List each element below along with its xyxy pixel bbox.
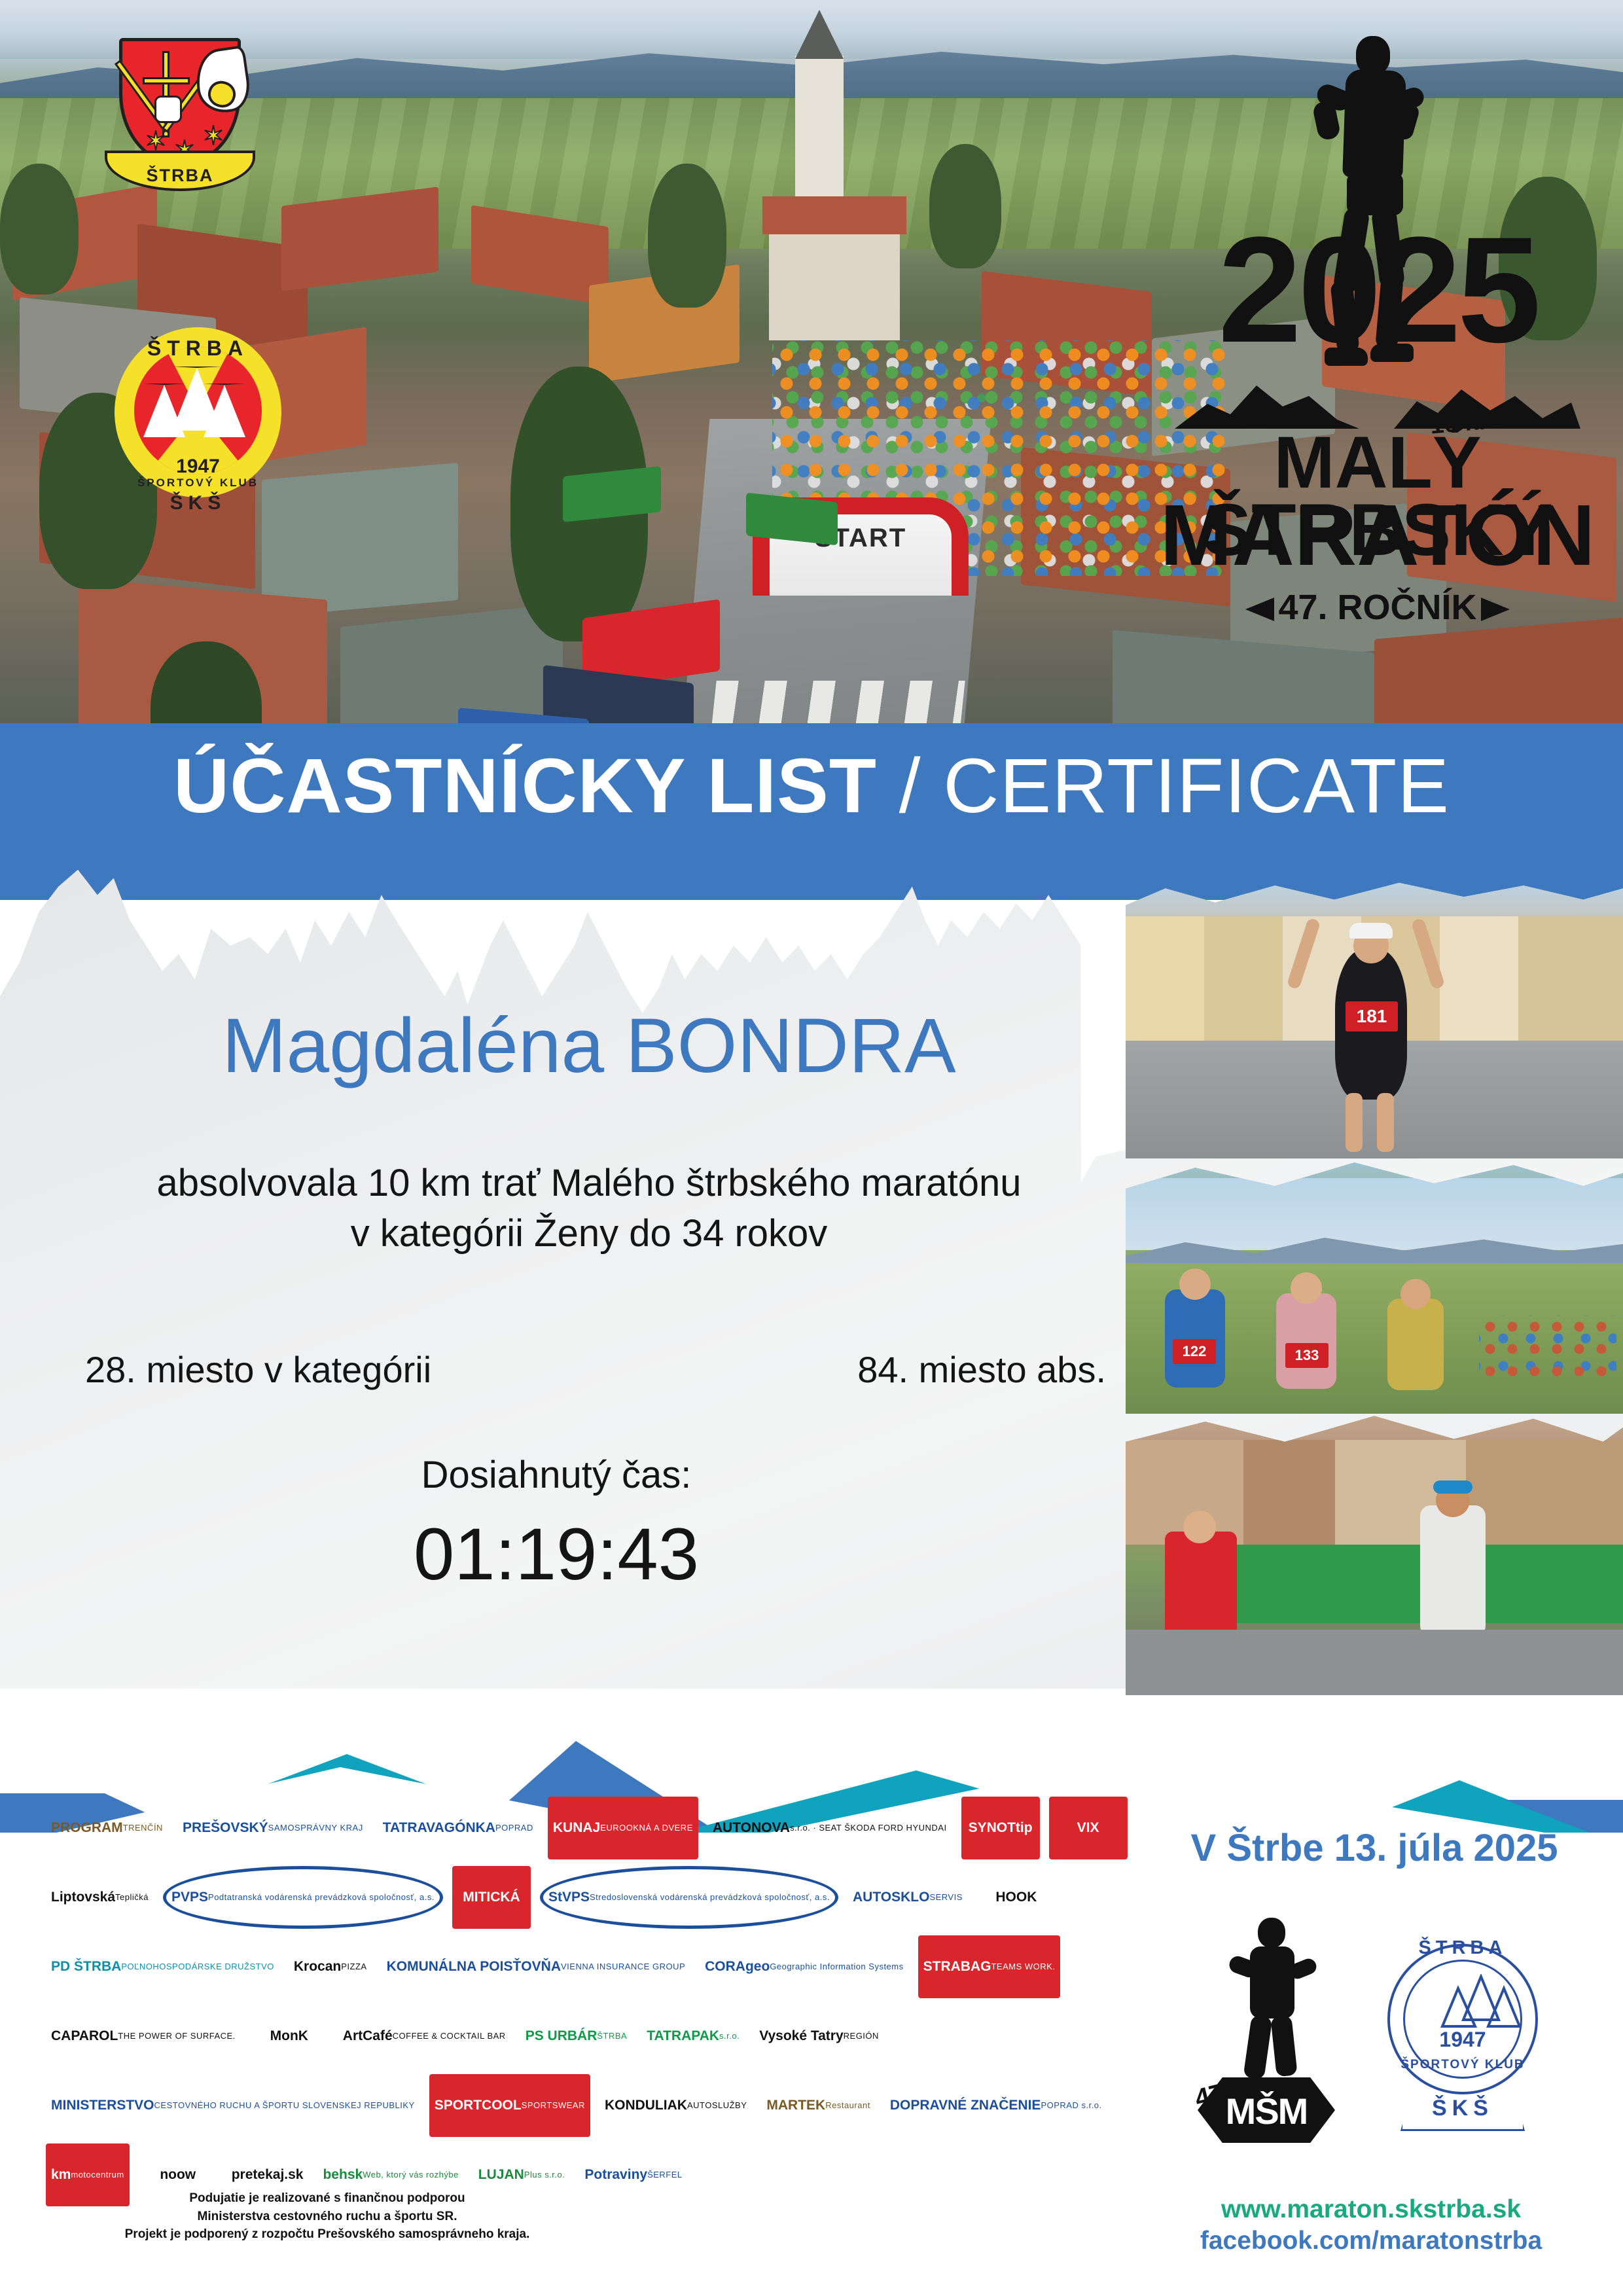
collage-sky bbox=[1126, 1178, 1623, 1250]
sponsor-logo-grid: PROGRAMTRENČÍNPREŠOVSKÝSAMOSPRÁVNY KRAJT… bbox=[46, 1797, 1145, 2206]
bib-number: 133 bbox=[1285, 1343, 1329, 1368]
sponsor-subtitle: SERVIS bbox=[929, 1893, 962, 1902]
finish-banner-green bbox=[1204, 1545, 1623, 1623]
sponsor-name: MARTEK bbox=[766, 2098, 825, 2113]
sponsor-name: KOMUNÁLNA POISŤOVŇA bbox=[387, 1960, 561, 1974]
runner-group-far bbox=[1479, 1316, 1616, 1388]
sponsor-name: MITICKÁ bbox=[463, 1890, 520, 1905]
sponsor-name: SPORTCOOL bbox=[435, 2098, 522, 2113]
sks-club-emblem: ŠTRBA 1947 ŠPORTOVÝ KLUB ŠKŠ bbox=[115, 327, 281, 497]
sponsor-logo: DOPRAVNÉ ZNAČENIEPOPRAD s.r.o. bbox=[885, 2074, 1107, 2137]
bib-number: 181 bbox=[1346, 1001, 1398, 1031]
sponsor-logo: CAPAROLTHE POWER OF SURFACE. bbox=[46, 2005, 241, 2068]
runner-head bbox=[1400, 1279, 1431, 1309]
sponsor-name: STRABAG bbox=[923, 1960, 991, 1974]
sponsor-logo: KOMUNÁLNA POISŤOVŇAVIENNA INSURANCE GROU… bbox=[382, 1935, 691, 1998]
sponsor-subtitle: PIZZA bbox=[341, 1962, 366, 1971]
photo-tree bbox=[929, 144, 1001, 268]
sks-top-label: ŠTRBA bbox=[115, 336, 281, 361]
emblem-ribbon-label: ŠTRBA bbox=[147, 166, 214, 186]
mountain-peak-icon bbox=[143, 384, 185, 437]
runner-yellow bbox=[1387, 1299, 1444, 1390]
sponsor-name: behsk bbox=[323, 2168, 363, 2182]
cross-arm-icon bbox=[143, 77, 190, 84]
sponsor-subtitle: REGIÓN bbox=[844, 2032, 879, 2041]
sponsor-subtitle: Plus s.r.o. bbox=[524, 2170, 565, 2179]
photo-church-roof bbox=[762, 196, 906, 234]
sponsor-name: pretekaj.sk bbox=[232, 2168, 304, 2182]
sponsor-logo: TATRAPAKs.r.o. bbox=[641, 2005, 745, 2068]
sks-mid-label: ŠPORTOVÝ KLUB bbox=[115, 476, 281, 490]
sponsor-logo: KrocanPIZZA bbox=[289, 1935, 372, 1998]
finisher-cap-icon bbox=[1349, 923, 1393, 939]
sponsor-logo: PREŠOVSKÝSAMOSPRÁVNY KRAJ bbox=[177, 1797, 368, 1859]
photo-collage: 181 122 133 bbox=[1126, 877, 1623, 1695]
sponsor-subtitle: Tepličká bbox=[115, 1893, 149, 1902]
collage-photo-runners-field: 122 133 bbox=[1126, 1152, 1623, 1414]
hero-photo-aerial-village: ŠTART ŠTRBA bbox=[0, 0, 1623, 772]
sponsor-name: TATRAVAGÓNKA bbox=[383, 1821, 495, 1835]
banner-title-light: CERTIFICATE bbox=[943, 743, 1450, 829]
finisher-leg bbox=[1377, 1093, 1394, 1152]
emblem-ribbon: ŠTRBA bbox=[105, 151, 255, 191]
participant-name: Magdaléna BONDRA bbox=[59, 1001, 1119, 1090]
finish-runner bbox=[1420, 1505, 1486, 1636]
sponsor-subtitle: POPRAD bbox=[495, 1823, 533, 1833]
sponsor-name: PREŠOVSKÝ bbox=[183, 1821, 268, 1835]
runner-head bbox=[1179, 1268, 1211, 1300]
sponsor-subtitle: THE POWER OF SURFACE. bbox=[118, 2032, 236, 2041]
sponsor-name: ArtCafé bbox=[343, 2029, 393, 2043]
sponsor-logo: CORAgeoGeographic Information Systems bbox=[700, 1935, 908, 1998]
sponsor-subtitle: Geographic Information Systems bbox=[770, 1962, 903, 1971]
sponsor-name: VIX bbox=[1077, 1821, 1099, 1835]
sponsor-name: SYNOTtip bbox=[969, 1821, 1033, 1835]
stamp-top-label: ŠTRBA bbox=[1393, 1937, 1533, 1959]
sks-bottom-label: ŠKŠ bbox=[115, 492, 281, 514]
sponsor-subtitle: POĽNOHOSPODÁRSKE DRUŽSTVO bbox=[121, 1962, 274, 1971]
sponsor-name: PROGRAM bbox=[51, 1821, 123, 1835]
sponsor-logo: StVPSStredoslovenská vodárenská prevádzk… bbox=[540, 1866, 838, 1929]
photo-church-nave bbox=[769, 216, 900, 340]
sponsor-name: CAPAROL bbox=[51, 2029, 118, 2043]
finish-time: 01:19:43 bbox=[59, 1512, 1054, 1596]
sponsor-subtitle: TRENČÍN bbox=[123, 1823, 163, 1833]
photo-roof bbox=[262, 463, 458, 617]
sponsor-name: Krocan bbox=[294, 1960, 341, 1974]
hand-icon bbox=[154, 96, 182, 123]
sponsor-subtitle: SPORTSWEAR bbox=[522, 2101, 585, 2110]
event-name-line2: MARATÓN bbox=[1149, 495, 1607, 575]
sponsor-logo: KONDULIAKAUTOSLUŽBY bbox=[599, 2074, 752, 2137]
collage-photo-finisher: 181 bbox=[1126, 877, 1623, 1158]
msm-abbreviation: MŠM bbox=[1191, 2090, 1342, 2132]
sponsor-logo: LiptovskáTepličká bbox=[46, 1866, 154, 1929]
description-line-1: absolvovala 10 km trať Malého štrbského … bbox=[59, 1158, 1119, 1209]
stamp-mountain-icon bbox=[1437, 1974, 1482, 2028]
sponsor-logo: MonK bbox=[250, 2005, 329, 2068]
sponsor-name: CORAgeo bbox=[705, 1960, 770, 1974]
sponsor-subtitle: VIENNA INSURANCE GROUP bbox=[561, 1962, 685, 1971]
banner-title: ÚČASTNÍCKY LIST / CERTIFICATE bbox=[0, 742, 1623, 831]
sponsor-logo: ArtCaféCOFFEE & COCKTAIL BAR bbox=[338, 2005, 511, 2068]
sponsor-name: StVPS bbox=[548, 1890, 590, 1905]
photo-tree bbox=[0, 164, 79, 295]
place-in-category: 28. miesto v kategórii bbox=[85, 1348, 431, 1391]
funding-note-line-3: Projekt je podporený z rozpočtu Prešovsk… bbox=[79, 2225, 576, 2244]
facebook-url[interactable]: facebook.com/maratonstrba bbox=[1155, 2225, 1587, 2257]
sponsor-name: MINISTERSTVO bbox=[51, 2098, 154, 2113]
arrow-right-icon bbox=[1481, 598, 1510, 621]
sponsor-logo: PVPSPodtatranská vodárenská prevádzková … bbox=[163, 1866, 443, 1929]
runner-pink bbox=[1276, 1293, 1336, 1389]
sponsor-logo: STRABAGTEAMS WORK. bbox=[918, 1935, 1061, 1998]
funding-note-line-2: Ministerstva cestovného ruchu a športu S… bbox=[79, 2208, 576, 2226]
funding-disclaimer: Podujatie je realizované s finančnou pod… bbox=[79, 2189, 576, 2244]
sponsor-name: PS URBÁR bbox=[526, 2029, 597, 2043]
sponsor-subtitle: ŠERFEL bbox=[647, 2170, 683, 2179]
sponsor-logo: SPORTCOOLSPORTSWEAR bbox=[429, 2074, 590, 2137]
sponsor-name: TATRAPAK bbox=[647, 2029, 719, 2043]
sponsor-subtitle: AUTOSLUŽBY bbox=[687, 2101, 747, 2110]
sponsor-name: Liptovská bbox=[51, 1890, 115, 1905]
stamp-bottom-label: ŠKŠ bbox=[1393, 2096, 1533, 2121]
sponsor-subtitle: COFFEE & COCKTAIL BAR bbox=[393, 2032, 506, 2041]
photo-tree bbox=[648, 164, 726, 308]
issue-date: V Štrbe 13. júla 2025 bbox=[1165, 1826, 1584, 1870]
sponsor-name: KUNAJ bbox=[553, 1821, 600, 1835]
certificate-page: ŠTART ŠTRBA bbox=[0, 0, 1623, 2296]
sponsor-subtitle: s.r.o. · SEAT ŠKODA FORD HYUNDAI bbox=[790, 1823, 946, 1833]
sponsor-name: AUTONOVA bbox=[713, 1821, 790, 1835]
mountain-peak-icon bbox=[204, 384, 245, 437]
sponsor-subtitle: EUROOKNÁ A DVERE bbox=[600, 1823, 693, 1833]
time-label: Dosiahnutý čas: bbox=[59, 1453, 1054, 1497]
sponsor-name: AUTOSKLO bbox=[853, 1890, 929, 1905]
sponsor-name: km bbox=[51, 2168, 71, 2182]
sks-year-label: 1947 bbox=[115, 456, 281, 478]
sponsor-logo: AUTONOVAs.r.o. · SEAT ŠKODA FORD HYUNDAI bbox=[707, 1797, 952, 1859]
sponsor-name: PVPS bbox=[171, 1890, 208, 1905]
runner-head bbox=[1291, 1272, 1322, 1304]
sponsor-subtitle: Podtatranská vodárenská prevádzková spol… bbox=[208, 1893, 435, 1902]
sponsor-logo: Vysoké TatryREGIÓN bbox=[754, 2005, 884, 2068]
certificate-banner: ÚČASTNÍCKY LIST / CERTIFICATE bbox=[0, 723, 1623, 900]
sponsor-subtitle: SAMOSPRÁVNY KRAJ bbox=[268, 1823, 363, 1833]
place-absolute: 84. miesto abs. bbox=[857, 1348, 1106, 1391]
sponsor-name: noow bbox=[160, 2168, 196, 2182]
contact-links: www.maraton.skstrba.sk facebook.com/mara… bbox=[1155, 2194, 1587, 2256]
description-line-2: v kategórii Ženy do 34 rokov bbox=[59, 1209, 1119, 1259]
sponsor-logo: VIX bbox=[1049, 1797, 1128, 1859]
sponsor-subtitle: Web, ktorý vás rozhýbe bbox=[363, 2170, 459, 2179]
sponsor-subtitle: Stredoslovenská vodárenská prevádzková s… bbox=[590, 1893, 830, 1902]
sponsor-logo: SYNOTtip bbox=[961, 1797, 1040, 1859]
sponsor-subtitle: POPRAD s.r.o. bbox=[1041, 2101, 1101, 2110]
sks-club-stamp: ŠTRBA 1947 ŠPORTOVÝ KLUB ŠKŠ bbox=[1374, 1918, 1551, 2134]
sponsor-subtitle: s.r.o. bbox=[719, 2032, 740, 2041]
runner-blue bbox=[1165, 1289, 1225, 1388]
sponsor-subtitle: motocentrum bbox=[71, 2170, 124, 2179]
banner-title-bold: ÚČASTNÍCKY LIST bbox=[173, 743, 877, 829]
event-year: 2025 bbox=[1149, 226, 1607, 354]
stamp-mid-label: ŠPORTOVÝ KLUB bbox=[1393, 2058, 1533, 2072]
stamp-year-label: 1947 bbox=[1393, 2028, 1533, 2052]
sponsor-name: MonK bbox=[270, 2029, 308, 2043]
placement-row: 28. miesto v kategórii 84. miesto abs. bbox=[85, 1348, 1106, 1391]
sponsor-name: HOOK bbox=[995, 1890, 1037, 1905]
sponsor-name: Vysoké Tatry bbox=[759, 2029, 843, 2043]
sponsor-name: LUJAN bbox=[478, 2168, 524, 2182]
sponsor-logo: MITICKÁ bbox=[452, 1866, 531, 1929]
sponsor-subtitle: ŠTRBA bbox=[597, 2032, 627, 2041]
finish-runner-bandana-icon bbox=[1433, 1480, 1472, 1494]
sponsor-logo: AUTOSKLOSERVIS bbox=[847, 1866, 968, 1929]
spectator-head bbox=[1183, 1511, 1216, 1543]
sponsor-logo: PotravinyŠERFEL bbox=[579, 2144, 687, 2206]
event-edition: 47. ROČNÍK bbox=[1149, 587, 1607, 628]
sponsor-logo: HOOK bbox=[977, 1866, 1056, 1929]
sponsor-logo: PD ŠTRBAPOĽNOHOSPODÁRSKE DRUŽSTVO bbox=[46, 1935, 279, 1998]
sponsor-logo: PS URBÁRŠTRBA bbox=[520, 2005, 633, 2068]
msm-event-logo: 47. MŠM bbox=[1191, 1911, 1342, 2147]
sponsor-logo: MINISTERSTVOCESTOVNÉHO RUCHU A ŠPORTU SL… bbox=[46, 2074, 420, 2137]
photo-church-spire bbox=[795, 10, 844, 59]
collage-photo-finish-line bbox=[1126, 1407, 1623, 1695]
sponsor-name: Potraviny bbox=[584, 2168, 647, 2182]
strba-coat-of-arms: ŠTRBA bbox=[105, 26, 255, 196]
funding-note-line-1: Podujatie je realizované s finančnou pod… bbox=[79, 2189, 576, 2208]
banner-title-separator: / bbox=[877, 743, 943, 829]
sponsor-logo: TATRAVAGÓNKAPOPRAD bbox=[378, 1797, 539, 1859]
event-logo: 2025 31 km 10 km MALÝ ŠTRBSKÝ MARATÓN 47… bbox=[1149, 29, 1607, 605]
certificate-description: absolvovala 10 km trať Malého štrbského … bbox=[59, 1158, 1119, 1259]
sponsor-logo: MARTEKRestaurant bbox=[761, 2074, 875, 2137]
sponsor-name: KONDULIAK bbox=[605, 2098, 687, 2113]
sponsor-logo: KUNAJEUROOKNÁ A DVERE bbox=[548, 1797, 698, 1859]
sponsor-subtitle: TEAMS WORK. bbox=[991, 1962, 1055, 1971]
sponsor-name: PD ŠTRBA bbox=[51, 1960, 121, 1974]
finisher-leg bbox=[1346, 1093, 1363, 1152]
msm-runner-icon bbox=[1229, 1918, 1308, 2081]
bib-number: 122 bbox=[1173, 1339, 1216, 1364]
sponsor-subtitle: CESTOVNÉHO RUCHU A ŠPORTU SLOVENSKEJ REP… bbox=[154, 2101, 415, 2110]
sponsor-name: DOPRAVNÉ ZNAČENIE bbox=[890, 2098, 1041, 2113]
sponsor-subtitle: Restaurant bbox=[825, 2101, 870, 2110]
website-url[interactable]: www.maraton.skstrba.sk bbox=[1155, 2194, 1587, 2225]
sponsor-logo: PROGRAMTRENČÍN bbox=[46, 1797, 168, 1859]
